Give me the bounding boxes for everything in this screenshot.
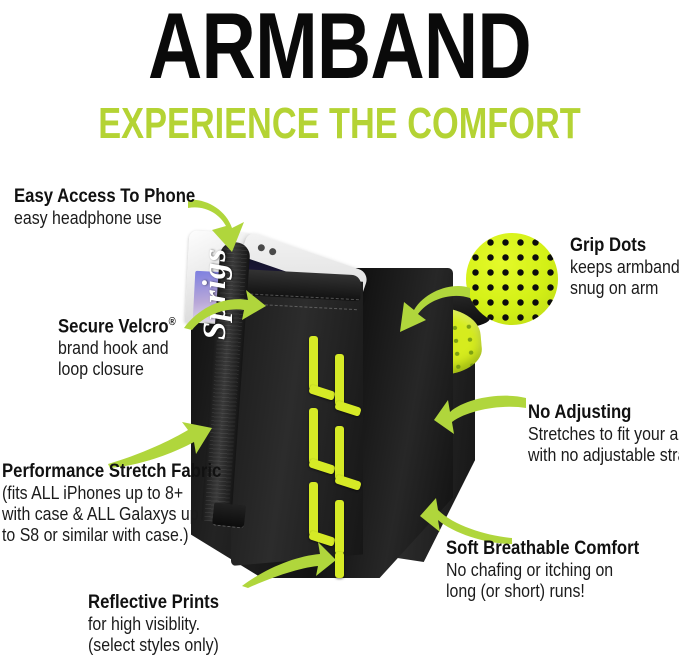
grip-dots-closeup [466, 233, 558, 325]
annotation-line: long (or short) runs! [446, 580, 635, 601]
page-subtitle: EXPERIENCE THE COMFORT [75, 100, 605, 148]
infographic-page: ARMBAND EXPERIENCE THE COMFORT Sprigs [0, 0, 679, 664]
annotation-line: (select styles only) [88, 634, 219, 655]
annotation-easy-access: Easy Access To Phone easy headphone use [14, 186, 220, 228]
annotation-heading: Easy Access To Phone [14, 186, 195, 207]
annotation-heading: Performance Stretch Fabric [2, 461, 221, 482]
arrow-reflective-prints [240, 538, 338, 588]
annotation-heading: Grip Dots [570, 235, 679, 256]
annotation-reflective-prints: Reflective Prints for high visiblity. (s… [88, 592, 240, 655]
registered-trademark-icon: ® [169, 316, 176, 328]
annotation-heading: Reflective Prints [88, 592, 222, 613]
arrow-no-adjusting [432, 392, 528, 438]
page-title: ARMBAND [68, 0, 611, 96]
arrow-soft-breathable [418, 494, 514, 544]
annotation-line: with no adjustable straps [528, 444, 679, 465]
annotation-heading: No Adjusting [528, 402, 679, 423]
annotation-secure-velcro: Secure Velcro® brand hook and loop closu… [58, 312, 192, 379]
annotation-line: easy headphone use [14, 207, 191, 228]
arrow-secure-velcro [182, 288, 268, 332]
annotation-line: No chafing or itching on [446, 559, 635, 580]
annotation-line: brand hook and [58, 337, 173, 358]
annotation-line: (fits ALL iPhones up to 8+ [2, 482, 216, 503]
phone-camera-icon [257, 243, 266, 252]
annotation-line: for high visiblity. [88, 613, 219, 634]
annotation-grip-dots: Grip Dots keeps armband snug on arm [570, 235, 679, 298]
annotation-line: loop closure [58, 358, 173, 379]
annotation-heading: Soft Breathable Comfort [446, 538, 639, 559]
annotation-line: Stretches to fit your arm [528, 423, 679, 444]
annotation-no-adjusting: No Adjusting Stretches to fit your arm w… [528, 402, 679, 465]
annotation-line: keeps armband [570, 256, 679, 277]
annotation-soft-breathable: Soft Breathable Comfort No chafing or it… [446, 538, 666, 601]
annotation-line: to S8 or similar with case.) [2, 524, 216, 545]
annotation-performance-fabric: Performance Stretch Fabric (fits ALL iPh… [2, 461, 251, 545]
arrow-grip-dots [396, 282, 472, 338]
annotation-heading: Secure Velcro® [58, 312, 176, 337]
annotation-line: snug on arm [570, 277, 679, 298]
annotation-line: with case & ALL Galaxys up [2, 503, 216, 524]
